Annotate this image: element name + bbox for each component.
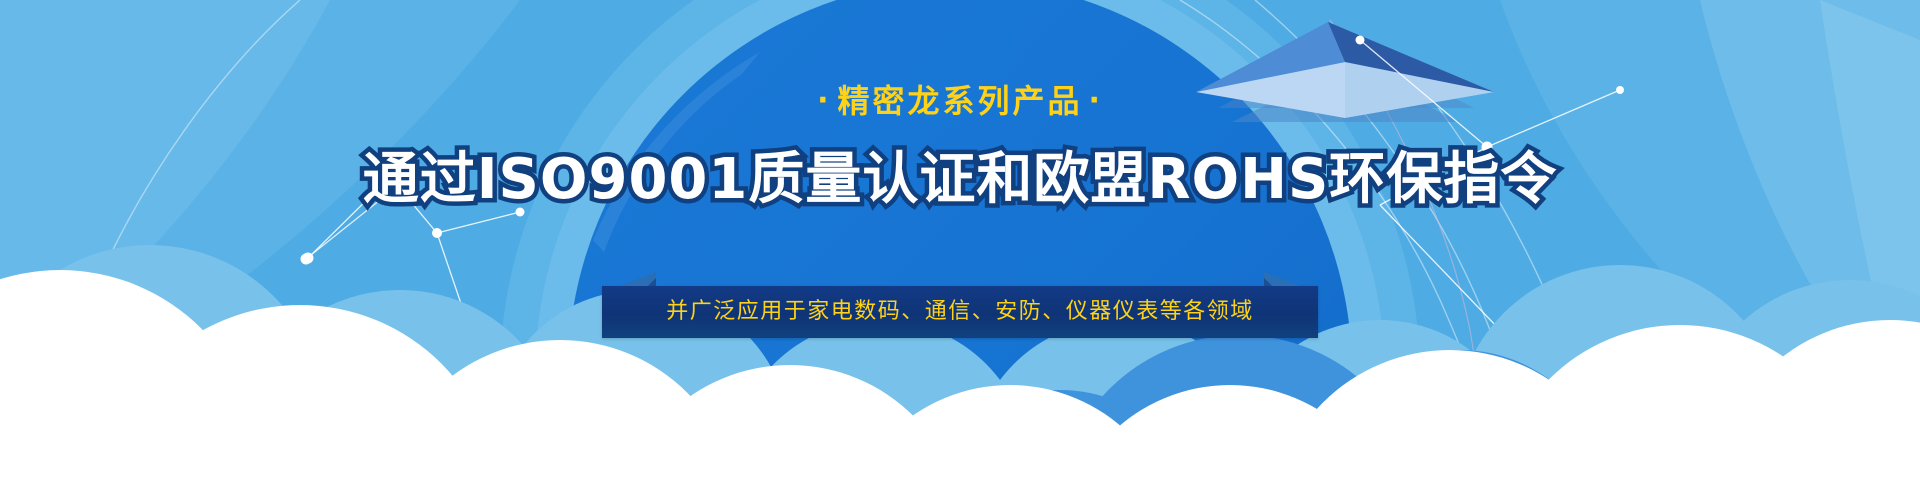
ribbon-text: 并广泛应用于家电数码、通信、安防、仪器仪表等各领域: [666, 299, 1254, 324]
ribbon-container: 并广泛应用于家电数码、通信、安防、仪器仪表等各领域: [0, 286, 1920, 346]
eyebrow-left-dot-icon: ·: [811, 83, 837, 118]
eyebrow-text: 精密龙系列产品: [837, 82, 1082, 120]
ribbon-fold-left-icon: [620, 272, 656, 286]
eyebrow-line: ·精密龙系列产品·: [0, 76, 1920, 122]
headline-outline: 通过ISO9001质量认证和欧盟ROHS环保指令: [363, 140, 1558, 220]
eyebrow-right-dot-icon: ·: [1083, 83, 1109, 118]
subtitle-ribbon: 并广泛应用于家电数码、通信、安防、仪器仪表等各领域: [602, 286, 1318, 338]
headline-container: 通过ISO9001质量认证和欧盟ROHS环保指令: [0, 140, 1920, 220]
hero-banner: ·精密龙系列产品· 通过ISO9001质量认证和欧盟ROHS环保指令 并广泛应用…: [0, 0, 1920, 480]
cloud-band: [0, 0, 1920, 480]
ribbon-fold-right-icon: [1264, 272, 1300, 286]
